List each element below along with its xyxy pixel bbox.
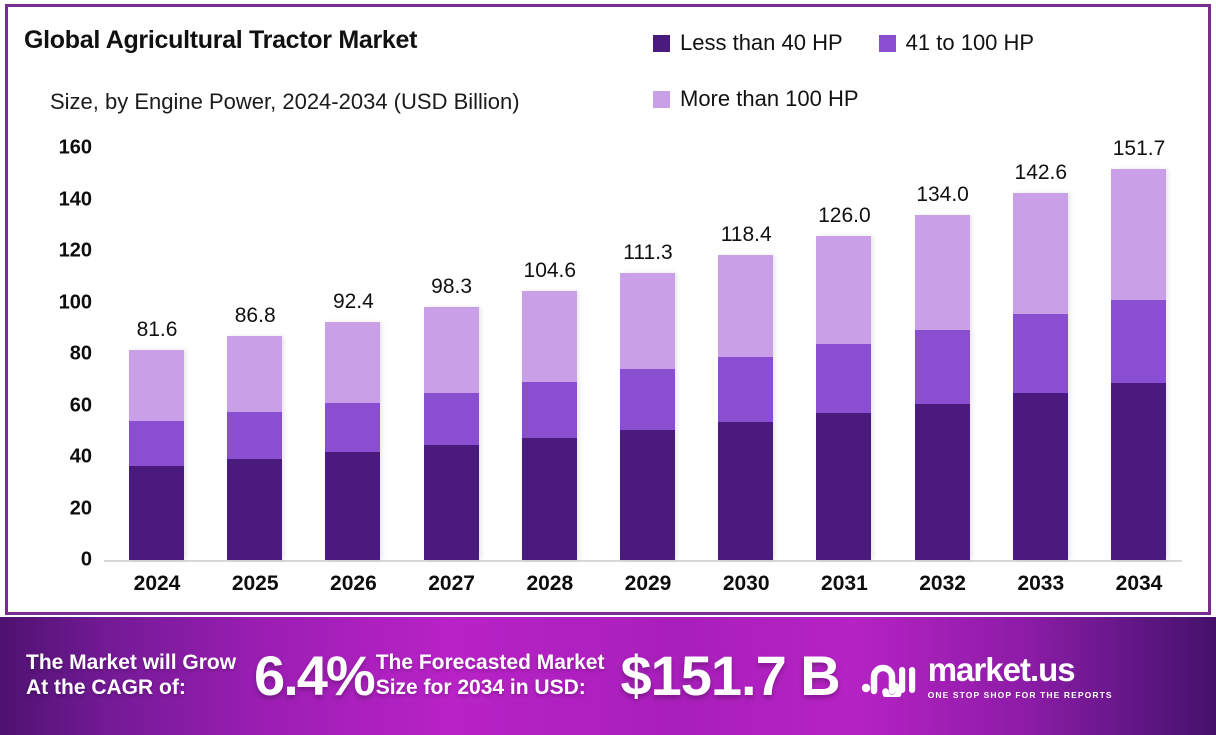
stacked-bar[interactable] — [1111, 169, 1166, 560]
y-axis-tick: 80 — [24, 343, 92, 366]
stacked-bar[interactable] — [718, 255, 773, 560]
bar-group[interactable]: 86.82025 — [227, 7, 282, 560]
stacked-bar[interactable] — [424, 307, 479, 560]
bar-group[interactable]: 142.62033 — [1013, 7, 1068, 560]
stacked-bar[interactable] — [1013, 193, 1068, 560]
bar-segment[interactable] — [1111, 169, 1166, 300]
stacked-bar[interactable] — [620, 273, 675, 560]
bar-segment[interactable] — [227, 459, 282, 560]
y-axis-tick: 120 — [24, 240, 92, 263]
bar-segment[interactable] — [522, 382, 577, 438]
cagr-caption: The Market will Grow At the CAGR of: — [26, 651, 236, 701]
bar-segment[interactable] — [424, 393, 479, 446]
bar-group[interactable]: 134.02032 — [915, 7, 970, 560]
bar-value-label: 126.0 — [784, 204, 904, 228]
logo-name: market.us — [928, 653, 1075, 686]
stacked-bar[interactable] — [816, 236, 871, 560]
bar-segment[interactable] — [325, 403, 380, 452]
bar-segment[interactable] — [915, 330, 970, 405]
bar-segment[interactable] — [620, 430, 675, 560]
bar-group[interactable]: 111.32029 — [620, 7, 675, 560]
bar-segment[interactable] — [915, 215, 970, 330]
x-axis-label: 2034 — [1079, 572, 1199, 596]
cagr-value: 6.4% — [254, 648, 374, 704]
bar-segment[interactable] — [522, 291, 577, 383]
bar-segment[interactable] — [620, 369, 675, 429]
y-axis-tick: 0 — [24, 549, 92, 572]
bar-segment[interactable] — [424, 445, 479, 560]
bar-group[interactable]: 81.62024 — [129, 7, 184, 560]
chart-card: Global Agricultural Tractor Market Size,… — [5, 4, 1211, 615]
bar-segment[interactable] — [915, 404, 970, 560]
bar-segment[interactable] — [718, 422, 773, 560]
bar-segment[interactable] — [227, 412, 282, 459]
x-axis-line — [104, 560, 1182, 562]
bar-segment[interactable] — [424, 307, 479, 393]
bar-segment[interactable] — [325, 452, 380, 560]
y-axis-tick: 20 — [24, 497, 92, 520]
market-us-logo-icon — [860, 655, 918, 697]
brand-logo[interactable]: market.us ONE STOP SHOP FOR THE REPORTS — [860, 653, 1113, 700]
bar-segment[interactable] — [620, 273, 675, 369]
y-axis-tick: 100 — [24, 291, 92, 314]
bar-group[interactable]: 151.72034 — [1111, 7, 1166, 560]
forecast-caption: The Forecasted Market Size for 2034 in U… — [376, 651, 605, 701]
bar-value-label: 134.0 — [883, 183, 1003, 207]
y-axis-tick: 160 — [24, 137, 92, 160]
bar-group[interactable]: 126.02031 — [816, 7, 871, 560]
stacked-bar[interactable] — [325, 322, 380, 560]
bar-segment[interactable] — [129, 466, 184, 560]
bar-segment[interactable] — [718, 255, 773, 356]
bar-segment[interactable] — [129, 421, 184, 466]
bar-value-label: 151.7 — [1079, 137, 1199, 161]
bar-segment[interactable] — [325, 322, 380, 403]
stacked-bar[interactable] — [227, 336, 282, 560]
bar-segment[interactable] — [227, 336, 282, 411]
stacked-bar[interactable] — [522, 291, 577, 560]
stacked-bar[interactable] — [915, 215, 970, 560]
summary-banner: The Market will Grow At the CAGR of: 6.4… — [0, 617, 1216, 735]
bar-segment[interactable] — [816, 344, 871, 413]
bar-group[interactable]: 98.32027 — [424, 7, 479, 560]
logo-tagline: ONE STOP SHOP FOR THE REPORTS — [928, 690, 1113, 700]
bar-segment[interactable] — [522, 438, 577, 560]
bar-group[interactable]: 118.42030 — [718, 7, 773, 560]
y-axis-tick: 60 — [24, 394, 92, 417]
stacked-bar[interactable] — [129, 350, 184, 560]
forecast-value: $151.7 B — [620, 648, 839, 704]
y-axis-tick: 40 — [24, 446, 92, 469]
y-axis-tick: 140 — [24, 188, 92, 211]
bar-segment[interactable] — [816, 413, 871, 560]
bar-value-label: 142.6 — [981, 161, 1101, 185]
infographic-root: Global Agricultural Tractor Market Size,… — [0, 0, 1216, 735]
bar-segment[interactable] — [1111, 300, 1166, 383]
plot-area: 02040608010012014016081.6202486.8202592.… — [8, 7, 1208, 612]
bar-segment[interactable] — [1013, 314, 1068, 393]
bar-segment[interactable] — [718, 357, 773, 422]
bar-segment[interactable] — [816, 236, 871, 345]
bar-group[interactable]: 92.42026 — [325, 7, 380, 560]
bar-segment[interactable] — [1013, 193, 1068, 314]
bar-group[interactable]: 104.62028 — [522, 7, 577, 560]
bar-segment[interactable] — [129, 350, 184, 421]
bar-segment[interactable] — [1013, 393, 1068, 560]
bar-segment[interactable] — [1111, 383, 1166, 560]
